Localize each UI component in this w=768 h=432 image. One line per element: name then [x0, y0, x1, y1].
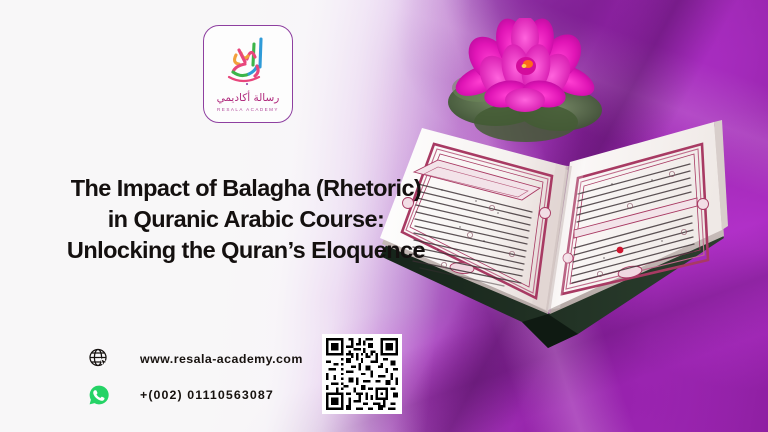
- website-label: www.resala-academy.com: [140, 352, 303, 366]
- website-row[interactable]: www.resala-academy.com: [86, 344, 303, 374]
- globe-cursor-icon: [86, 346, 112, 372]
- title-line-1: The Impact of Balagha (Rhetoric): [30, 173, 462, 204]
- whatsapp-icon: [86, 382, 112, 408]
- contact-info: www.resala-academy.com +(002) 0111056308…: [86, 344, 303, 416]
- logo-arabic-name: رسالة أكاديمي: [217, 92, 280, 104]
- title-line-3: Unlocking the Quran’s Eloquence: [30, 235, 462, 266]
- phone-label: +(002) 01110563087: [140, 388, 274, 402]
- course-promo-banner: رسالة أكاديمي RESALA ACADEMY The Impact …: [0, 0, 768, 432]
- page-title: The Impact of Balagha (Rhetoric) in Qura…: [30, 173, 462, 266]
- resala-academy-logo[interactable]: رسالة أكاديمي RESALA ACADEMY: [203, 25, 293, 123]
- title-line-2: in Quranic Arabic Course:: [30, 204, 462, 235]
- logo-english-name: RESALA ACADEMY: [217, 107, 279, 112]
- whatsapp-row[interactable]: +(002) 01110563087: [86, 380, 303, 410]
- qr-code[interactable]: [322, 334, 402, 414]
- logo-calligraphy-icon: [217, 33, 279, 89]
